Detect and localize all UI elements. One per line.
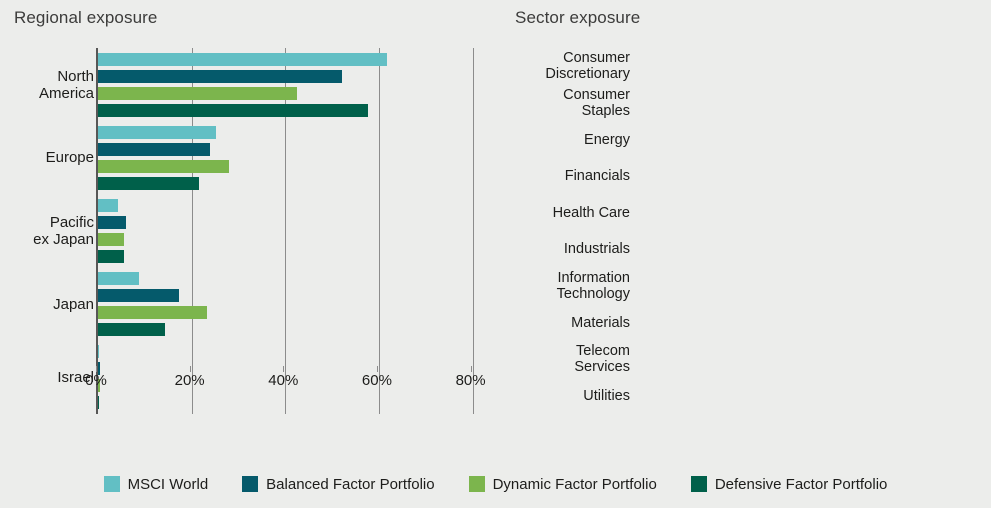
bar-group-europe	[98, 126, 494, 190]
legend-swatch-icon	[469, 476, 485, 492]
bar-north-america-msci-world	[98, 53, 387, 66]
bar-japan-dynamic-factor-portfolio	[98, 306, 207, 319]
bar-israel-msci-world	[98, 345, 99, 358]
category-label-japan: Japan	[0, 296, 94, 313]
bar-pacific-ex-japan-dynamic-factor-portfolio	[98, 233, 124, 246]
category-label-pacific-ex-japan: Pacific ex Japan	[0, 214, 94, 248]
legend-swatch-icon	[104, 476, 120, 492]
category-label-financials: Financials	[480, 168, 630, 184]
legend-item-balanced-factor-portfolio[interactable]: Balanced Factor Portfolio	[242, 476, 434, 493]
bar-north-america-defensive-factor-portfolio	[98, 104, 368, 117]
legend-label: Defensive Factor Portfolio	[715, 476, 888, 493]
bar-japan-msci-world	[98, 272, 139, 285]
page-title-sector: Sector exposure	[515, 8, 640, 28]
bar-japan-defensive-factor-portfolio	[98, 323, 165, 336]
category-label-north-america: North America	[0, 68, 94, 102]
category-label-utilities: Utilities	[480, 388, 630, 404]
bar-group-pacific-ex-japan	[98, 199, 494, 263]
category-label-materials: Materials	[480, 315, 630, 331]
legend-label: MSCI World	[128, 476, 209, 493]
bar-pacific-ex-japan-defensive-factor-portfolio	[98, 250, 124, 263]
x-axis-tick-label: 60%	[362, 372, 392, 389]
legend-item-dynamic-factor-portfolio[interactable]: Dynamic Factor Portfolio	[469, 476, 657, 493]
bar-japan-balanced-factor-portfolio	[98, 289, 179, 302]
legend-swatch-icon	[242, 476, 258, 492]
category-label-israel: Israel	[0, 369, 94, 386]
legend-item-defensive-factor-portfolio[interactable]: Defensive Factor Portfolio	[691, 476, 888, 493]
bar-group-japan	[98, 272, 494, 336]
bar-europe-defensive-factor-portfolio	[98, 177, 199, 190]
regional-exposure-plot	[96, 48, 494, 414]
bar-israel-defensive-factor-portfolio	[98, 396, 99, 409]
bar-europe-msci-world	[98, 126, 216, 139]
bar-north-america-dynamic-factor-portfolio	[98, 87, 297, 100]
bar-north-america-balanced-factor-portfolio	[98, 70, 342, 83]
chart-legend: MSCI WorldBalanced Factor PortfolioDynam…	[0, 468, 991, 500]
bar-pacific-ex-japan-msci-world	[98, 199, 118, 212]
category-label-telecom-services: Telecom Services	[480, 343, 630, 375]
category-label-energy: Energy	[480, 132, 630, 148]
category-label-information-technology: Information Technology	[480, 270, 630, 302]
category-label-health-care: Health Care	[480, 205, 630, 221]
legend-swatch-icon	[691, 476, 707, 492]
legend-label: Dynamic Factor Portfolio	[493, 476, 657, 493]
page-title-regional: Regional exposure	[14, 8, 157, 28]
category-label-europe: Europe	[0, 149, 94, 166]
category-label-industrials: Industrials	[480, 241, 630, 257]
bar-europe-balanced-factor-portfolio	[98, 143, 210, 156]
bar-pacific-ex-japan-balanced-factor-portfolio	[98, 216, 126, 229]
category-label-consumer-discretionary: Consumer Discretionary	[480, 50, 630, 82]
legend-item-msci-world[interactable]: MSCI World	[104, 476, 209, 493]
regional-exposure-panel: Regional exposure 0%20%40%60%80%North Am…	[0, 0, 500, 455]
x-axis-tick-label: 20%	[175, 372, 205, 389]
legend-label: Balanced Factor Portfolio	[266, 476, 434, 493]
sector-exposure-panel: Sector exposure 0%5%10%15%20%25%Consumer…	[500, 0, 991, 455]
bar-group-north-america	[98, 53, 494, 117]
bar-europe-dynamic-factor-portfolio	[98, 160, 229, 173]
x-axis-tick-label: 40%	[268, 372, 298, 389]
category-label-consumer-staples: Consumer Staples	[480, 87, 630, 119]
